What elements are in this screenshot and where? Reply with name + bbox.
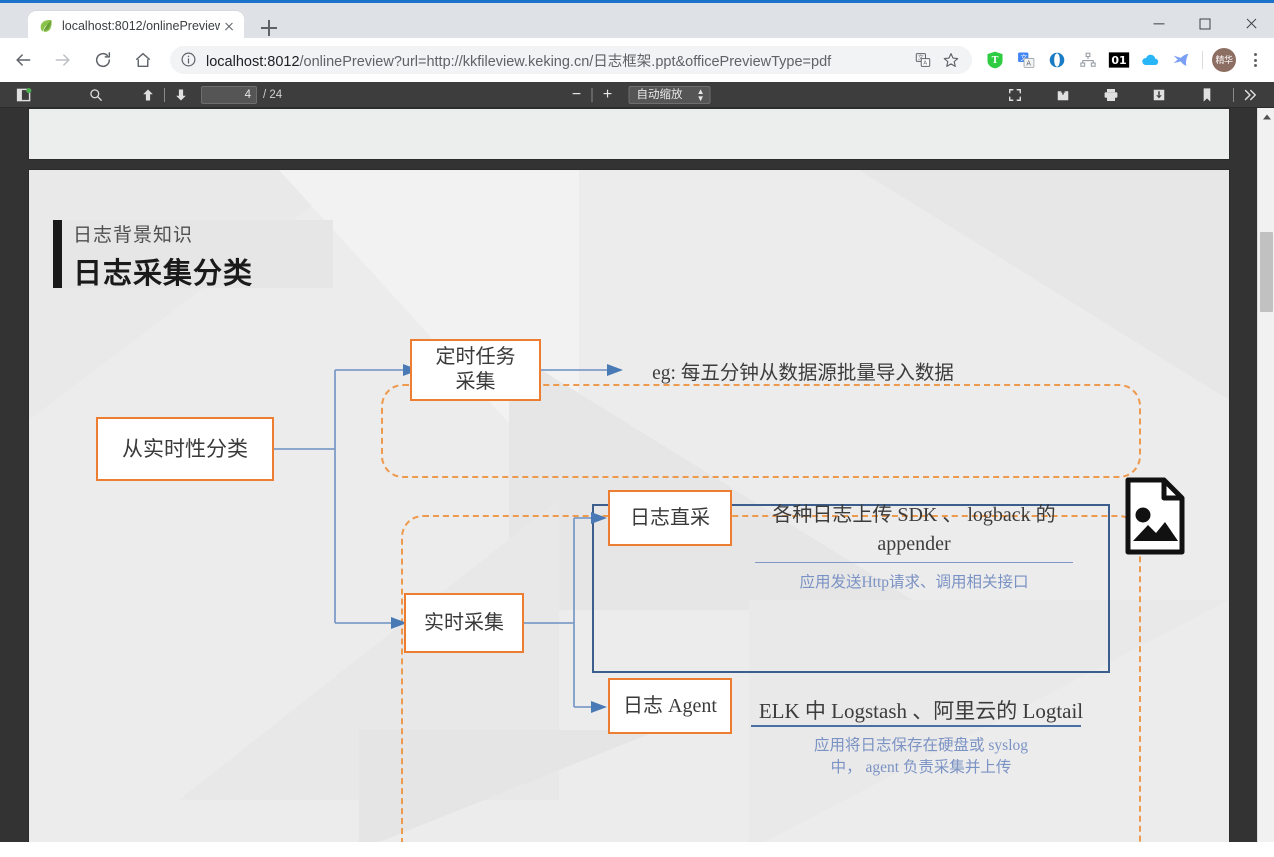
address-bar-url: localhost:8012/onlinePreview?url=http://… xyxy=(206,50,910,71)
presentation-mode-icon[interactable] xyxy=(1001,83,1029,107)
zoom-level-select[interactable]: 自动缩放 ▲▼ xyxy=(629,86,711,104)
tab-close-icon[interactable] xyxy=(220,17,238,35)
scroll-up-arrow-icon[interactable] xyxy=(1258,108,1274,125)
browser-window: localhost:8012/onlinePreview? xyxy=(0,0,1274,857)
desc-scheduled: eg: 每五分钟从数据源批量导入数据 xyxy=(623,356,983,385)
bottom-strip xyxy=(0,842,1274,857)
address-bar[interactable]: localhost:8012/onlinePreview?url=http://… xyxy=(170,46,972,74)
desc-direct-main: 各种日志上传 SDK 、 logback 的 appender xyxy=(744,501,1084,559)
divider-direct xyxy=(755,562,1073,563)
toolbar-divider xyxy=(1233,88,1234,102)
desc-agent-sub: 应用将日志保存在硬盘或 syslog 中， agent 负责采集并上传 xyxy=(751,735,1091,780)
toolbar-divider xyxy=(1202,51,1203,69)
kebab-menu-icon[interactable] xyxy=(1242,47,1268,73)
address-host: localhost:8012 xyxy=(206,54,300,70)
home-icon[interactable] xyxy=(126,43,160,77)
maximize-button[interactable] xyxy=(1182,6,1228,41)
navigation-toolbar: localhost:8012/onlinePreview?url=http://… xyxy=(0,38,1274,82)
reload-icon[interactable] xyxy=(86,43,120,77)
box-log-agent: 日志 Agent xyxy=(608,678,732,734)
pdf-page-viewport[interactable]: 日志背景知识 日志采集分类 xyxy=(0,108,1274,842)
pdf-toolbar-right xyxy=(1001,83,1270,107)
pdf-page-current: 日志背景知识 日志采集分类 xyxy=(28,169,1230,842)
svg-text:A: A xyxy=(1026,60,1031,68)
page-down-icon[interactable] xyxy=(167,83,195,107)
slide-subtitle: 日志背景知识 xyxy=(73,220,193,247)
tab-strip: localhost:8012/onlinePreview? xyxy=(0,6,1120,41)
divider-agent xyxy=(751,725,1081,727)
title-bar: localhost:8012/onlinePreview? xyxy=(0,0,1274,38)
avatar[interactable]: 精华 xyxy=(1209,45,1239,75)
print-icon[interactable] xyxy=(1097,83,1125,107)
svg-text:A: A xyxy=(923,61,927,67)
address-path: /onlinePreview?url=http://kkfileview.kek… xyxy=(300,54,832,70)
zoom-in-button[interactable]: + xyxy=(595,84,621,106)
toolbar-divider xyxy=(592,88,593,102)
window-close-button[interactable] xyxy=(1228,6,1274,41)
opera-ring-icon[interactable] xyxy=(1042,45,1072,75)
browser-tab[interactable]: localhost:8012/onlinePreview? xyxy=(28,11,244,41)
zoom-out-button[interactable]: − xyxy=(564,84,590,106)
zero-one-badge-icon[interactable]: 01 xyxy=(1104,45,1134,75)
box-realtime-collection: 实时采集 xyxy=(404,593,524,653)
tab-title: localhost:8012/onlinePreview? xyxy=(62,19,220,33)
tampermonkey-icon[interactable]: T xyxy=(980,45,1010,75)
avatar-label: 精华 xyxy=(1212,48,1236,72)
page-total-label: / 24 xyxy=(263,89,282,101)
page-number-input[interactable]: 4 xyxy=(201,86,257,104)
cloud-icon[interactable] xyxy=(1135,45,1165,75)
bird-icon[interactable] xyxy=(1166,45,1196,75)
broken-image-placeholder-icon xyxy=(1124,477,1186,555)
box-root: 从实时性分类 xyxy=(96,417,274,481)
minimize-button[interactable] xyxy=(1136,6,1182,41)
svg-text:T: T xyxy=(992,55,999,66)
toolbar-divider xyxy=(164,88,165,102)
leaf-icon xyxy=(38,18,54,34)
vertical-scrollbar[interactable] xyxy=(1257,108,1274,857)
zoom-level-label: 自动缩放 xyxy=(637,89,683,101)
desc-direct-sub: 应用发送Http请求、调用相关接口 xyxy=(744,570,1084,592)
window-controls xyxy=(1136,6,1274,41)
download-icon[interactable] xyxy=(1145,83,1173,107)
search-icon[interactable] xyxy=(82,83,110,107)
star-icon[interactable] xyxy=(938,47,964,73)
translate-icon[interactable]: 文 A xyxy=(910,47,936,73)
omnibox-actions: 文 A xyxy=(910,47,964,73)
pdf-viewer-toolbar: 4 / 24 − + 自动缩放 ▲▼ xyxy=(0,82,1274,108)
extension-tray: T 文 A xyxy=(980,45,1274,75)
back-arrow-icon[interactable] xyxy=(6,43,40,77)
forward-arrow-icon xyxy=(46,43,80,77)
pdf-page-previous xyxy=(28,108,1230,160)
pdf-toolbar-left: 4 / 24 xyxy=(0,83,282,107)
sitemap-icon[interactable] xyxy=(1073,45,1103,75)
svg-text:01: 01 xyxy=(1111,54,1126,67)
desc-agent-main: ELK 中 Logstash 、阿里云的 Logtail xyxy=(751,695,1091,725)
info-circle-icon[interactable] xyxy=(180,51,198,69)
pdf-toolbar-center: − + 自动缩放 ▲▼ xyxy=(564,84,711,106)
double-chevron-right-icon[interactable] xyxy=(1236,83,1264,107)
slide-title: 日志采集分类 xyxy=(73,250,253,292)
bookmark-icon[interactable] xyxy=(1193,83,1221,107)
box-direct-collection: 日志直采 xyxy=(608,490,732,546)
chevron-updown-icon: ▲▼ xyxy=(697,88,705,102)
box-scheduled-collection: 定时任务 采集 xyxy=(410,339,541,401)
sidebar-toggle-icon[interactable] xyxy=(10,83,38,107)
page-up-icon[interactable] xyxy=(134,83,162,107)
google-translate-icon[interactable]: 文 A xyxy=(1011,45,1041,75)
scrollbar-thumb[interactable] xyxy=(1260,232,1273,312)
slide-title-accent-bar xyxy=(53,220,62,288)
open-file-icon[interactable] xyxy=(1049,83,1077,107)
